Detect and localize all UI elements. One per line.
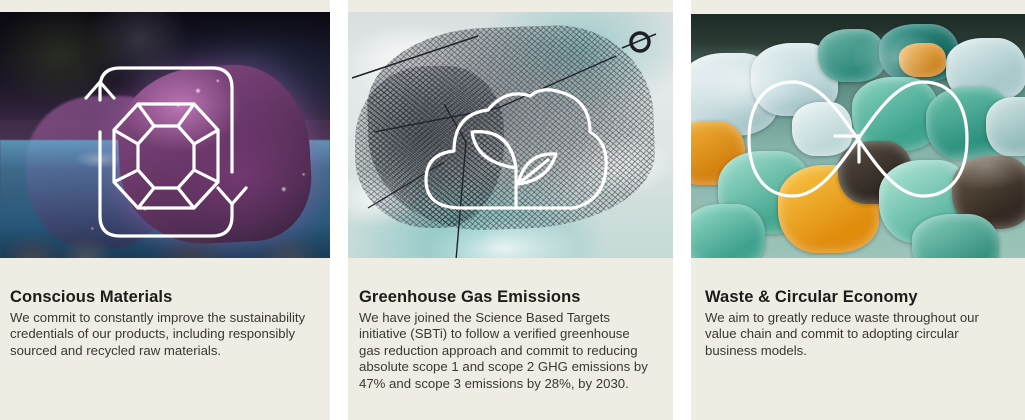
card-photo-conscious-materials (0, 12, 330, 258)
card-text-greenhouse-gas: Greenhouse Gas Emissions We have joined … (348, 258, 673, 392)
glass-chunk (818, 29, 885, 83)
photo-sparkle-highlights (0, 12, 330, 258)
card-text-conscious-materials: Conscious Materials We commit to constan… (0, 258, 330, 359)
card-body: We have joined the Science Based Targets… (359, 310, 651, 392)
glass-chunk (986, 97, 1025, 156)
card-text-waste-circular: Waste & Circular Economy We aim to great… (691, 258, 1025, 359)
photo-scene-amethyst (0, 12, 330, 258)
photo-scene-mesh-sculpture (348, 12, 673, 258)
card-title: Greenhouse Gas Emissions (359, 288, 651, 307)
card-photo-greenhouse-gas (348, 12, 673, 258)
card-title: Waste & Circular Economy (705, 288, 1008, 307)
card-body: We aim to greatly reduce waste throughou… (705, 310, 1008, 359)
glass-chunk (691, 204, 765, 258)
column-gutter-2 (673, 0, 691, 420)
card-body: We commit to constantly improve the sust… (10, 310, 308, 359)
card-photo-waste-circular (691, 14, 1025, 258)
glass-chunk (912, 214, 999, 258)
photo-glass-chunks (691, 14, 1025, 258)
sustainability-cards-board: Conscious Materials We commit to constan… (0, 0, 1025, 420)
card-greenhouse-gas-emissions[interactable]: Greenhouse Gas Emissions We have joined … (348, 0, 673, 420)
column-gutter-1 (330, 0, 348, 420)
card-conscious-materials[interactable]: Conscious Materials We commit to constan… (0, 0, 330, 420)
glass-chunk (899, 43, 946, 77)
photo-support-wires (348, 12, 673, 258)
photo-scene-glass-cullet (691, 14, 1025, 258)
glass-chunk (792, 102, 852, 156)
card-title: Conscious Materials (10, 288, 308, 307)
card-waste-circular-economy[interactable]: Waste & Circular Economy We aim to great… (691, 0, 1025, 420)
